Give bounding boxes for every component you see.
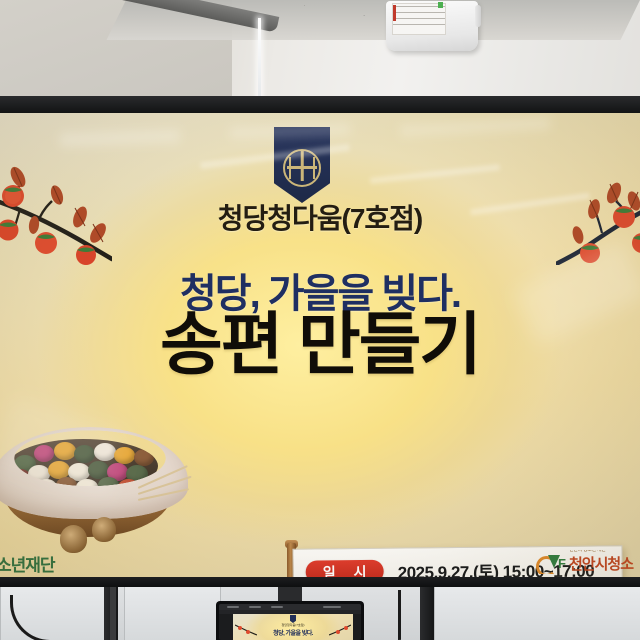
monitor-toolbar-item xyxy=(227,606,239,608)
control-panel-red-stripe xyxy=(393,5,396,21)
tv-bezel-bottom-edge xyxy=(0,577,640,587)
monitor-poster-preview: 청당청다움(7호점) 청당, 가을을 빚다. xyxy=(233,614,353,640)
pinecone-icon xyxy=(92,517,116,542)
cyf-logo-name: 천안시청소 xyxy=(569,553,640,574)
monitor-toolbar-item xyxy=(249,606,261,608)
pinecone-icon xyxy=(60,525,87,553)
monitor-poster-line1: 청당청다움(7호점) xyxy=(233,623,353,627)
songpyeon-basket-icon xyxy=(0,413,197,563)
screen-reflection xyxy=(400,117,550,137)
korean-longevity-emblem-icon xyxy=(290,615,296,623)
screen-reflection xyxy=(60,129,180,147)
poster-main-title: 송편 만들기 xyxy=(0,311,640,379)
wall-control-panel[interactable] xyxy=(386,1,478,51)
wall-panel-section xyxy=(434,587,640,640)
wall-panel-section xyxy=(124,587,221,640)
tv-bezel-top-edge xyxy=(0,96,640,113)
foundation-logo-left: 소년재단 xyxy=(0,551,116,573)
basket-cloth xyxy=(0,427,188,519)
poster-shop-line: 청당청다움(7호점) xyxy=(0,197,640,237)
monitor-poster-line2: 청당, 가을을 빚다. xyxy=(233,628,353,637)
monitor-screen: 청당청다움(7호점) 청당, 가을을 빚다. xyxy=(219,604,361,640)
monitor-toolbar-item xyxy=(271,606,283,608)
tv-stand-post xyxy=(110,587,116,640)
cyf-logo-mark: F xyxy=(536,554,566,574)
event-poster: 청당청다움(7호점) 청당, 가을을 빚다. 송편 만들기 xyxy=(0,113,640,577)
info-label-date: 일 시 xyxy=(306,560,384,577)
screen-reflection xyxy=(370,164,500,184)
control-panel-side-button[interactable] xyxy=(475,5,481,27)
tv-screen: 청당청다움(7호점) 청당, 가을을 빚다. 송편 만들기 xyxy=(0,113,640,577)
cyf-logo-icon: F 천안의 청소년 재단 천안시청소 xyxy=(536,550,640,574)
screenshot-scene: 청당청다움(7호점) 청당, 가을을 빚다. 송편 만들기 xyxy=(0,0,640,640)
korean-longevity-emblem-icon xyxy=(274,127,330,203)
monitor-toolbar-item xyxy=(323,606,341,608)
foundation-logo-left-text: 소년재단 xyxy=(0,556,55,573)
presentation-monitor[interactable]: 청당청다움(7호점) 청당, 가을을 빚다. xyxy=(216,601,364,640)
control-panel-green-indicator xyxy=(438,2,443,8)
